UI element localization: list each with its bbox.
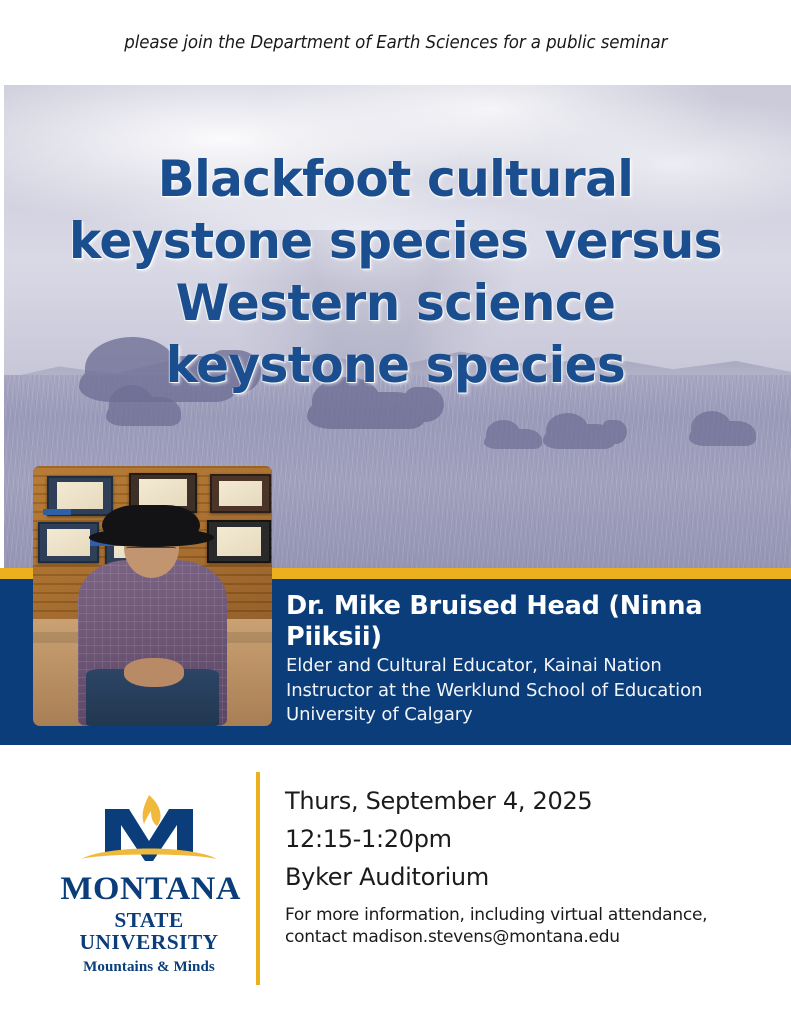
msu-montana-wordmark: MONTANA — [60, 873, 237, 906]
contact-note-line-2: contact madison.stevens@montana.edu — [285, 926, 775, 948]
contact-note-line-1: For more information, including virtual … — [285, 904, 775, 926]
speaker-info: Dr. Mike Bruised Head (Ninna Piiksii) El… — [286, 591, 776, 727]
invitation-strip: please join the Department of Earth Scie… — [0, 0, 791, 85]
event-date: Thurs, September 4, 2025 — [285, 782, 775, 820]
portrait-hands — [124, 658, 184, 687]
gold-vertical-divider — [256, 772, 260, 985]
msu-m-flame-mark — [63, 793, 235, 871]
wall-plaque — [43, 509, 72, 516]
event-time: 12:15-1:20pm — [285, 820, 775, 858]
speaker-role-line-3: University of Calgary — [286, 703, 776, 727]
event-location: Byker Auditorium — [285, 858, 775, 896]
invitation-text: please join the Department of Earth Scie… — [124, 33, 667, 53]
speaker-role-line-1: Elder and Cultural Educator, Kainai Nati… — [286, 654, 776, 678]
msu-m-icon — [63, 793, 235, 871]
seminar-poster: please join the Department of Earth Scie… — [0, 0, 791, 1024]
msu-logo: MONTANA STATE UNIVERSITY Mountains & Min… — [63, 793, 235, 975]
event-details: Thurs, September 4, 2025 12:15-1:20pm By… — [285, 782, 775, 948]
framed-certificate — [210, 474, 271, 512]
glasses-icon — [126, 547, 176, 556]
msu-state-university-wordmark: STATE UNIVERSITY — [63, 910, 235, 953]
speaker-portrait-photo — [33, 466, 272, 726]
speaker-role-line-2: Instructor at the Werklund School of Edu… — [286, 679, 776, 703]
msu-tagline: Mountains & Minds — [63, 960, 235, 975]
cowboy-hat-icon — [102, 505, 200, 541]
speaker-name: Dr. Mike Bruised Head (Ninna Piiksii) — [286, 591, 776, 653]
framed-certificate — [207, 520, 271, 563]
